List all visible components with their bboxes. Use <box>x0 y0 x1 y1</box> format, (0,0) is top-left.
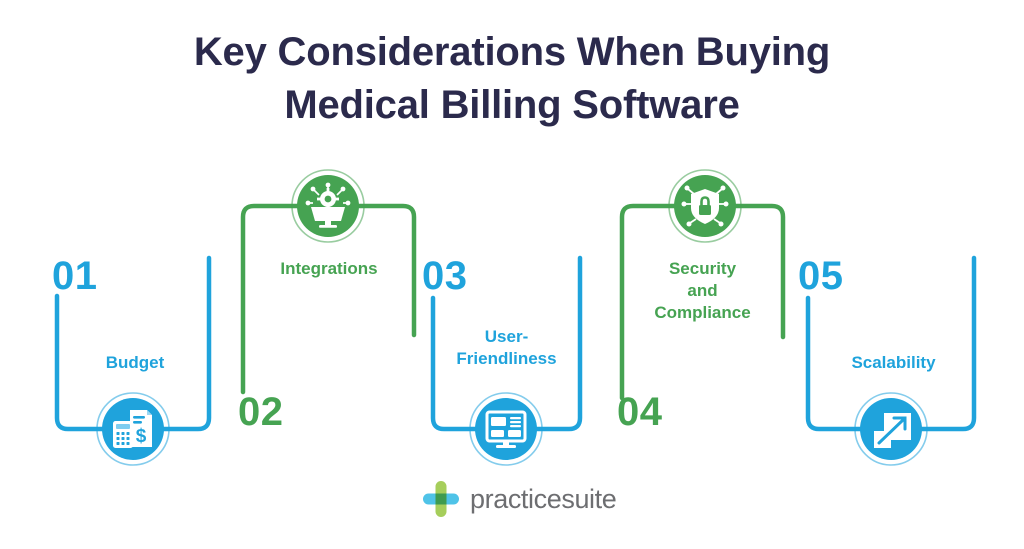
step-label-03-line-2: Friendliness <box>443 348 570 370</box>
step-number-02: 02 <box>238 392 284 432</box>
step-number-04: 04 <box>617 392 663 432</box>
dashboard-monitor-icon[interactable] <box>467 390 545 468</box>
step-label-04-line-3: Compliance <box>634 302 771 324</box>
logo-wordmark: practicesuite <box>470 486 616 513</box>
practicesuite-logo[interactable]: practicesuite <box>421 479 616 519</box>
shield-lock-icon[interactable] <box>666 167 744 245</box>
step-label-01: Budget <box>73 352 197 374</box>
expand-arrow-icon[interactable] <box>852 390 930 468</box>
step-label-03-line-1: User- <box>443 326 570 348</box>
step-label-03: User- Friendliness <box>443 326 570 370</box>
step-label-04: Security and Compliance <box>634 258 771 324</box>
step-label-04-line-2: and <box>634 280 771 302</box>
step-number-01: 01 <box>52 256 98 296</box>
step-label-04-line-1: Security <box>634 258 771 280</box>
step-label-05: Scalability <box>827 352 960 374</box>
monitor-gear-icon[interactable] <box>289 167 367 245</box>
cross-plus-icon <box>421 479 461 519</box>
step-number-05: 05 <box>798 256 844 296</box>
invoice-calculator-icon[interactable]: $ <box>94 390 172 468</box>
step-number-03: 03 <box>422 256 468 296</box>
infographic-canvas: Key Considerations When Buying Medical B… <box>0 0 1024 549</box>
step-label-02: Integrations <box>255 258 403 280</box>
svg-text:$: $ <box>136 426 147 447</box>
